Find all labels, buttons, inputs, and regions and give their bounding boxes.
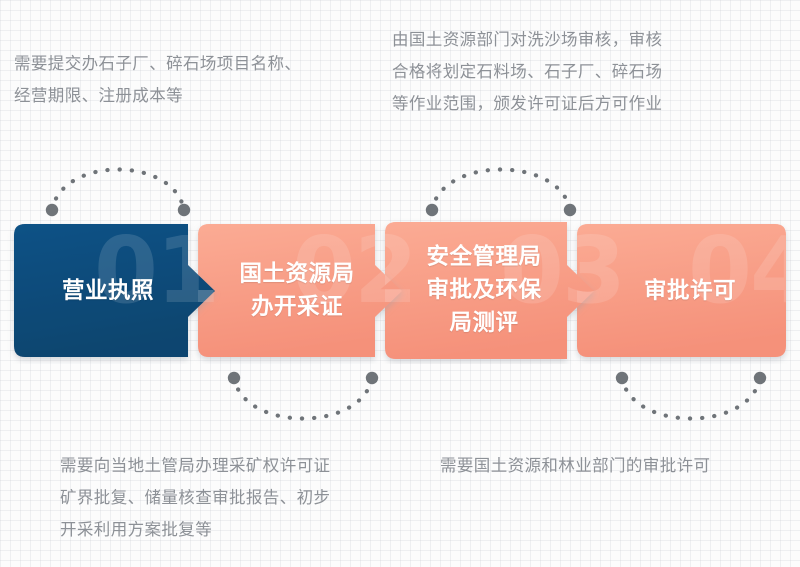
note-top-left: 需要提交办石子厂、碎石场项目名称、 经营期限、注册成本等 <box>14 48 384 112</box>
flowchart-canvas: 需要提交办石子厂、碎石场项目名称、 经营期限、注册成本等 由国土资源部门对洗沙场… <box>0 0 800 567</box>
dotted-arc-top-left <box>28 148 208 220</box>
dotted-arc-bottom-left <box>212 366 397 438</box>
step-label-1[interactable]: 营业执照 <box>22 224 194 356</box>
note-top-right: 由国土资源部门对洗沙场审核，审核 合格将划定石料场、石子厂、碎石场 等作业范围，… <box>392 24 792 120</box>
note-bottom-right: 需要国土资源和林业部门的审批许可 <box>440 450 800 482</box>
step-label-2[interactable]: 国土资源局 办开采证 <box>215 224 379 356</box>
note-bottom-left: 需要向当地土管局办理采矿权许可证 矿界批复、储量核查审批报告、初步 开采利用方案… <box>60 450 432 546</box>
step-label-3[interactable]: 安全管理局 审批及环保 局测评 <box>399 222 569 357</box>
dotted-arc-bottom-right <box>602 366 787 438</box>
dotted-arc-top-right <box>410 148 595 220</box>
step-label-4[interactable]: 审批许可 <box>600 224 780 356</box>
